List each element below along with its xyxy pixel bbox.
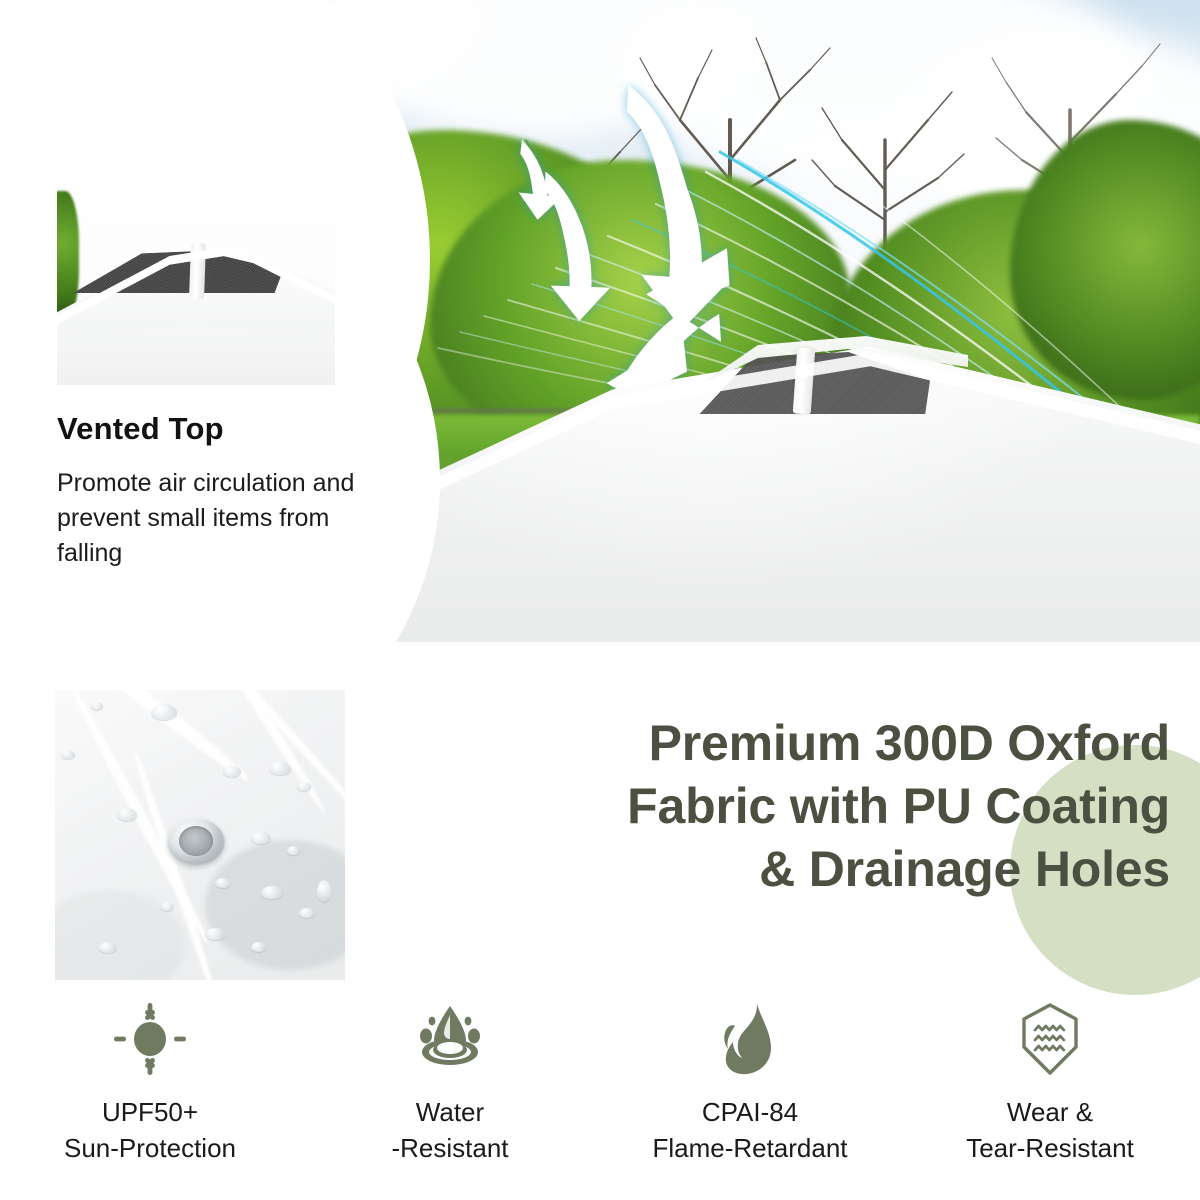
- feature-flame-retardant: CPAI-84 Flame-Retardant: [600, 1000, 900, 1166]
- hero-photo-vented-canopy: Vented Top Promote air circulation and p…: [0, 0, 1200, 642]
- feature-label-line-1: CPAI-84: [652, 1094, 847, 1130]
- feature-label-line-2: Tear-Resistant: [966, 1130, 1134, 1166]
- inset-foliage: [57, 191, 79, 321]
- page-headline: Premium 300D Oxford Fabric with PU Coati…: [400, 712, 1170, 901]
- water-droplet: [161, 902, 174, 911]
- flame-icon: [713, 1000, 787, 1078]
- feature-label-line-2: Flame-Retardant: [652, 1130, 847, 1166]
- headline-line-3: & Drainage Holes: [400, 838, 1170, 901]
- water-droplet: [287, 846, 300, 855]
- vented-top-inset-photo: [57, 107, 335, 385]
- water-droplet: [223, 766, 241, 777]
- feature-label: UPF50+ Sun-Protection: [64, 1094, 236, 1166]
- feature-upf50-sun-protection: UPF50+ Sun-Protection: [0, 1000, 300, 1166]
- vented-top-title: Vented Top: [57, 411, 224, 447]
- water-droplet: [91, 702, 103, 710]
- feature-label: Wear & Tear-Resistant: [966, 1094, 1134, 1166]
- drainage-hole-opening: [179, 826, 213, 856]
- feature-label-line-1: UPF50+: [64, 1094, 236, 1130]
- water-droplet: [317, 880, 331, 902]
- feature-label-line-2: -Resistant: [391, 1130, 508, 1166]
- headline-line-1: Premium 300D Oxford: [400, 712, 1170, 775]
- water-droplet: [251, 942, 266, 952]
- water-droplet: [61, 750, 75, 759]
- fabric-crease: [210, 690, 345, 822]
- feature-label: Water -Resistant: [391, 1094, 508, 1166]
- water-droplet: [205, 928, 225, 940]
- feature-wear-tear-resistant: Wear & Tear-Resistant: [900, 1000, 1200, 1166]
- product-feature-page: Vented Top Promote air circulation and p…: [0, 0, 1200, 1200]
- feature-label-line-1: Wear &: [966, 1094, 1134, 1130]
- feature-label-line-1: Water: [391, 1094, 508, 1130]
- water-droplet: [251, 832, 271, 844]
- shield-icon: [1013, 1000, 1087, 1078]
- water-drop-icon: [413, 1000, 487, 1078]
- feature-label: CPAI-84 Flame-Retardant: [652, 1094, 847, 1166]
- feature-water-resistant: Water -Resistant: [300, 1000, 600, 1166]
- water-droplet: [151, 704, 177, 720]
- water-droplet: [261, 886, 283, 899]
- water-droplet: [269, 762, 291, 775]
- headline-line-2: Fabric with PU Coating: [400, 775, 1170, 838]
- water-droplet: [297, 782, 311, 791]
- feature-label-line-2: Sun-Protection: [64, 1130, 236, 1166]
- fabric-closeup-photo: [55, 690, 345, 980]
- water-droplet: [299, 908, 315, 918]
- water-droplet: [99, 942, 117, 953]
- feature-icon-row: UPF50+ Sun-Protection: [0, 1000, 1200, 1190]
- water-droplet: [117, 808, 137, 821]
- vented-top-description: Promote air circulation and prevent smal…: [57, 466, 397, 571]
- sun-icon: [113, 1000, 187, 1078]
- fabric-shadow: [205, 840, 345, 970]
- water-droplet: [215, 878, 231, 888]
